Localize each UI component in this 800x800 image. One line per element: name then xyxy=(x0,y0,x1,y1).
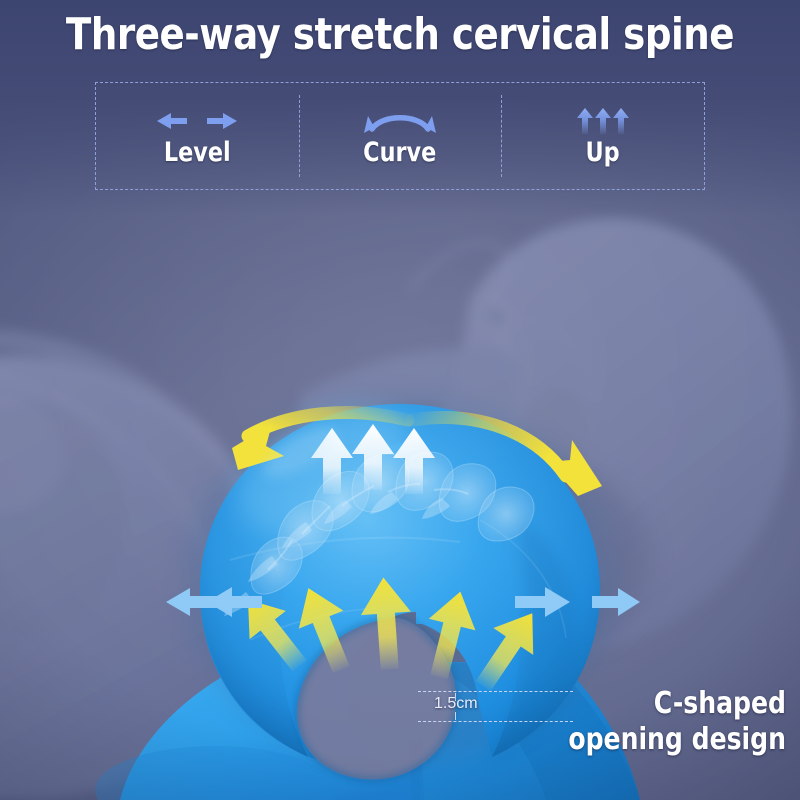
arc-double-arrow-icon xyxy=(352,106,448,136)
feature-box: Level Curve xyxy=(95,82,705,190)
triple-up-arrow-icon xyxy=(560,106,646,136)
measure-tick-bottom xyxy=(455,712,456,720)
feature-label-up: Up xyxy=(586,138,620,168)
feature-item-level: Level xyxy=(96,83,299,189)
caption-block: C-shaped opening design xyxy=(507,686,786,758)
feature-label-curve: Curve xyxy=(363,138,436,168)
caption-line-1: C-shaped xyxy=(507,686,786,722)
feature-item-curve: Curve xyxy=(299,83,502,189)
page-title: Three-way stretch cervical spine xyxy=(24,6,776,64)
product-infographic: Three-way stretch cervical spine Level xyxy=(0,0,800,800)
feature-item-up: Up xyxy=(501,83,704,189)
caption-line-2: opening design xyxy=(507,722,786,758)
double-horizontal-arrow-icon xyxy=(149,106,245,136)
feature-label-level: Level xyxy=(164,138,231,168)
measurement-label: 1.5cm xyxy=(434,695,478,713)
